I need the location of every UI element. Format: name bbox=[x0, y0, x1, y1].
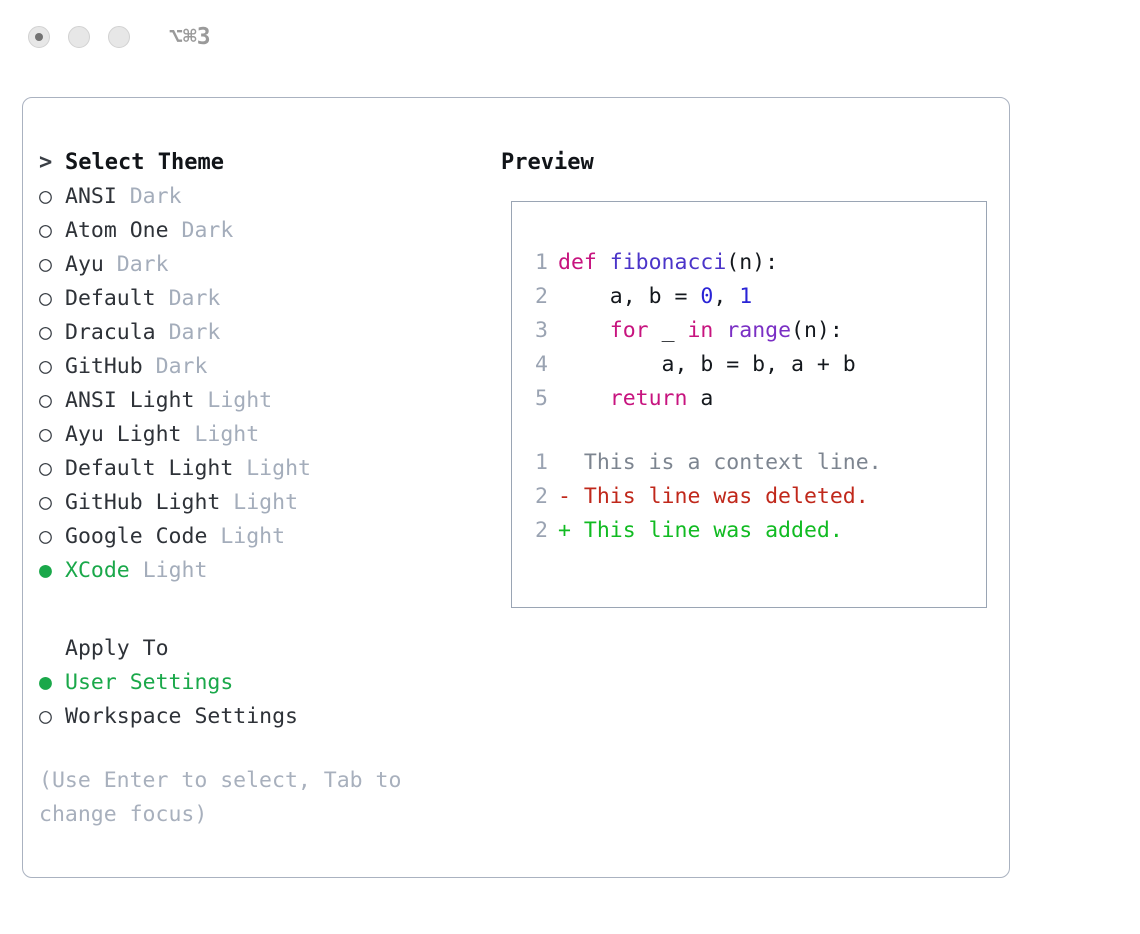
label-spacer bbox=[169, 218, 182, 243]
diff-sample: 1 This is a context line.2- This line wa… bbox=[524, 446, 978, 548]
theme-list-item[interactable]: ○Default Light Light bbox=[39, 452, 499, 486]
traffic-light-2-icon[interactable] bbox=[68, 26, 90, 48]
code-line-text: for _ in range(n): bbox=[548, 318, 843, 343]
theme-name-label: Ayu bbox=[65, 252, 104, 277]
theme-kind-label: Light bbox=[143, 558, 208, 583]
theme-name-label: GitHub Light bbox=[65, 490, 220, 515]
theme-name-label: Default Light bbox=[65, 456, 233, 481]
code-line-text: def fibonacci(n): bbox=[548, 250, 778, 275]
radio-unselected-icon[interactable]: ○ bbox=[39, 180, 65, 214]
code-line-number: 4 bbox=[524, 348, 548, 382]
radio-unselected-icon[interactable]: ○ bbox=[39, 214, 65, 248]
code-token-txt: (n): bbox=[726, 250, 778, 275]
code-token-kw: return bbox=[610, 386, 688, 411]
radio-unselected-icon[interactable]: ○ bbox=[39, 520, 65, 554]
radio-unselected-icon[interactable]: ○ bbox=[39, 452, 65, 486]
theme-kind-label: Light bbox=[220, 524, 285, 549]
theme-kind-label: Light bbox=[194, 422, 259, 447]
theme-name-label: Dracula bbox=[65, 320, 156, 345]
diff-line: 1 This is a context line. bbox=[524, 446, 978, 480]
radio-selected-icon[interactable]: ● bbox=[39, 554, 65, 588]
label-spacer bbox=[104, 252, 117, 277]
theme-kind-label: Light bbox=[246, 456, 311, 481]
label-spacer bbox=[220, 490, 233, 515]
radio-unselected-icon[interactable]: ○ bbox=[39, 418, 65, 452]
code-line-text: a, b = b, a + b bbox=[548, 352, 856, 377]
app-window: ⌥⌘3 >Select Theme ○ANSI Dark○Atom One Da… bbox=[0, 0, 1140, 934]
theme-kind-label: Dark bbox=[130, 184, 182, 209]
apply-to-list: ●User Settings○Workspace Settings bbox=[39, 666, 499, 734]
code-token-txt: a, b = bbox=[558, 284, 700, 309]
apply-to-item[interactable]: ○Workspace Settings bbox=[39, 700, 499, 734]
code-token-txt bbox=[558, 386, 610, 411]
code-token-kw: in bbox=[687, 318, 713, 343]
apply-to-heading: Apply To bbox=[39, 632, 499, 666]
code-preview: 1def fibonacci(n):2 a, b = 0, 13 for _ i… bbox=[524, 246, 978, 548]
label-spacer bbox=[207, 524, 220, 549]
theme-kind-label: Dark bbox=[169, 286, 221, 311]
label-spacer bbox=[182, 422, 195, 447]
diff-line-text-ctx: This is a context line. bbox=[548, 450, 882, 475]
code-token-txt bbox=[713, 318, 726, 343]
code-token-txt: a, b = b, a + b bbox=[558, 352, 856, 377]
theme-kind-label: Dark bbox=[156, 354, 208, 379]
theme-list-item[interactable]: ○ANSI Light Light bbox=[39, 384, 499, 418]
theme-list-item[interactable]: ○ANSI Dark bbox=[39, 180, 499, 214]
theme-list-item[interactable]: ○Atom One Dark bbox=[39, 214, 499, 248]
select-theme-heading-label: Select Theme bbox=[65, 150, 224, 175]
theme-list-item[interactable]: ○Google Code Light bbox=[39, 520, 499, 554]
theme-kind-label: Light bbox=[233, 490, 298, 515]
code-token-txt: (n): bbox=[791, 318, 843, 343]
label-spacer bbox=[156, 286, 169, 311]
label-spacer bbox=[233, 456, 246, 481]
code-line-number: 1 bbox=[524, 246, 548, 280]
diff-line-text-del: - This line was deleted. bbox=[548, 484, 869, 509]
theme-name-label: ANSI Light bbox=[65, 388, 194, 413]
diff-line-number: 2 bbox=[524, 514, 548, 548]
code-token-call: range bbox=[726, 318, 791, 343]
radio-unselected-icon[interactable]: ○ bbox=[39, 700, 65, 734]
keyboard-shortcut-label: ⌥⌘3 bbox=[169, 24, 211, 50]
diff-line-number: 1 bbox=[524, 446, 548, 480]
theme-picker-panel: >Select Theme ○ANSI Dark○Atom One Dark○A… bbox=[22, 97, 1010, 878]
code-line: 4 a, b = b, a + b bbox=[524, 348, 978, 382]
theme-kind-label: Light bbox=[207, 388, 272, 413]
radio-unselected-icon[interactable]: ○ bbox=[39, 316, 65, 350]
theme-kind-label: Dark bbox=[182, 218, 234, 243]
code-line: 1def fibonacci(n): bbox=[524, 246, 978, 280]
code-token-txt: _ bbox=[649, 318, 688, 343]
theme-list-item[interactable]: ○Ayu Dark bbox=[39, 248, 499, 282]
traffic-light-3-icon[interactable] bbox=[108, 26, 130, 48]
label-spacer bbox=[143, 354, 156, 379]
radio-unselected-icon[interactable]: ○ bbox=[39, 282, 65, 316]
label-spacer bbox=[156, 320, 169, 345]
label-spacer bbox=[117, 184, 130, 209]
code-line-text: return a bbox=[548, 386, 713, 411]
theme-kind-label: Dark bbox=[117, 252, 169, 277]
code-line: 5 return a bbox=[524, 382, 978, 416]
code-token-num: 0 bbox=[700, 284, 713, 309]
theme-kind-label: Dark bbox=[169, 320, 221, 345]
code-diff-spacer bbox=[524, 416, 978, 446]
label-spacer bbox=[130, 558, 143, 583]
theme-list-item[interactable]: ●XCode Light bbox=[39, 554, 499, 588]
radio-unselected-icon[interactable]: ○ bbox=[39, 350, 65, 384]
radio-selected-icon[interactable]: ● bbox=[39, 666, 65, 700]
theme-name-label: ANSI bbox=[65, 184, 117, 209]
code-token-txt bbox=[558, 318, 610, 343]
diff-line: 2+ This line was added. bbox=[524, 514, 978, 548]
radio-unselected-icon[interactable]: ○ bbox=[39, 486, 65, 520]
theme-name-label: Google Code bbox=[65, 524, 207, 549]
code-line-number: 3 bbox=[524, 314, 548, 348]
label-spacer bbox=[194, 388, 207, 413]
theme-name-label: XCode bbox=[65, 558, 130, 583]
apply-to-item[interactable]: ●User Settings bbox=[39, 666, 499, 700]
theme-name-label: Atom One bbox=[65, 218, 169, 243]
apply-to-label: Workspace Settings bbox=[65, 704, 298, 729]
select-theme-heading: >Select Theme bbox=[39, 146, 499, 180]
diff-line-text-add: + This line was added. bbox=[548, 518, 843, 543]
code-line-text: a, b = 0, 1 bbox=[548, 284, 752, 309]
theme-list-item[interactable]: ○Default Dark bbox=[39, 282, 499, 316]
code-line: 3 for _ in range(n): bbox=[524, 314, 978, 348]
code-token-kw: def bbox=[558, 250, 610, 275]
preview-box: 1def fibonacci(n):2 a, b = 0, 13 for _ i… bbox=[511, 201, 987, 608]
theme-selection-column: >Select Theme ○ANSI Dark○Atom One Dark○A… bbox=[39, 146, 499, 832]
code-line-number: 5 bbox=[524, 382, 548, 416]
theme-list-item[interactable]: ○GitHub Light Light bbox=[39, 486, 499, 520]
theme-list-item[interactable]: ○Ayu Light Light bbox=[39, 418, 499, 452]
code-token-num: 1 bbox=[739, 284, 752, 309]
diff-line-number: 2 bbox=[524, 480, 548, 514]
theme-name-label: GitHub bbox=[65, 354, 143, 379]
radio-unselected-icon[interactable]: ○ bbox=[39, 248, 65, 282]
prompt-caret-icon: > bbox=[39, 146, 65, 180]
code-line-number: 2 bbox=[524, 280, 548, 314]
section-divider bbox=[39, 588, 499, 632]
theme-list: ○ANSI Dark○Atom One Dark○Ayu Dark○Defaul… bbox=[39, 180, 499, 588]
code-token-txt: a bbox=[687, 386, 713, 411]
theme-name-label: Default bbox=[65, 286, 156, 311]
theme-list-item[interactable]: ○Dracula Dark bbox=[39, 316, 499, 350]
theme-list-item[interactable]: ○GitHub Dark bbox=[39, 350, 499, 384]
traffic-light-active-icon[interactable] bbox=[28, 26, 50, 48]
code-token-kw: for bbox=[610, 318, 649, 343]
apply-to-heading-label: Apply To bbox=[65, 636, 169, 661]
code-sample: 1def fibonacci(n):2 a, b = 0, 13 for _ i… bbox=[524, 246, 978, 416]
code-token-fn: fibonacci bbox=[610, 250, 727, 275]
apply-to-heading-marker bbox=[39, 632, 65, 666]
preview-column: Preview 1def fibonacci(n):2 a, b = 0, 13… bbox=[501, 146, 993, 608]
code-token-txt: , bbox=[713, 284, 739, 309]
keyboard-hint-text: (Use Enter to select, Tab to change focu… bbox=[39, 764, 459, 832]
preview-heading: Preview bbox=[501, 146, 993, 180]
apply-to-label: User Settings bbox=[65, 670, 233, 695]
radio-unselected-icon[interactable]: ○ bbox=[39, 384, 65, 418]
code-line: 2 a, b = 0, 1 bbox=[524, 280, 978, 314]
diff-line: 2- This line was deleted. bbox=[524, 480, 978, 514]
theme-name-label: Ayu Light bbox=[65, 422, 182, 447]
title-bar: ⌥⌘3 bbox=[0, 0, 1140, 76]
